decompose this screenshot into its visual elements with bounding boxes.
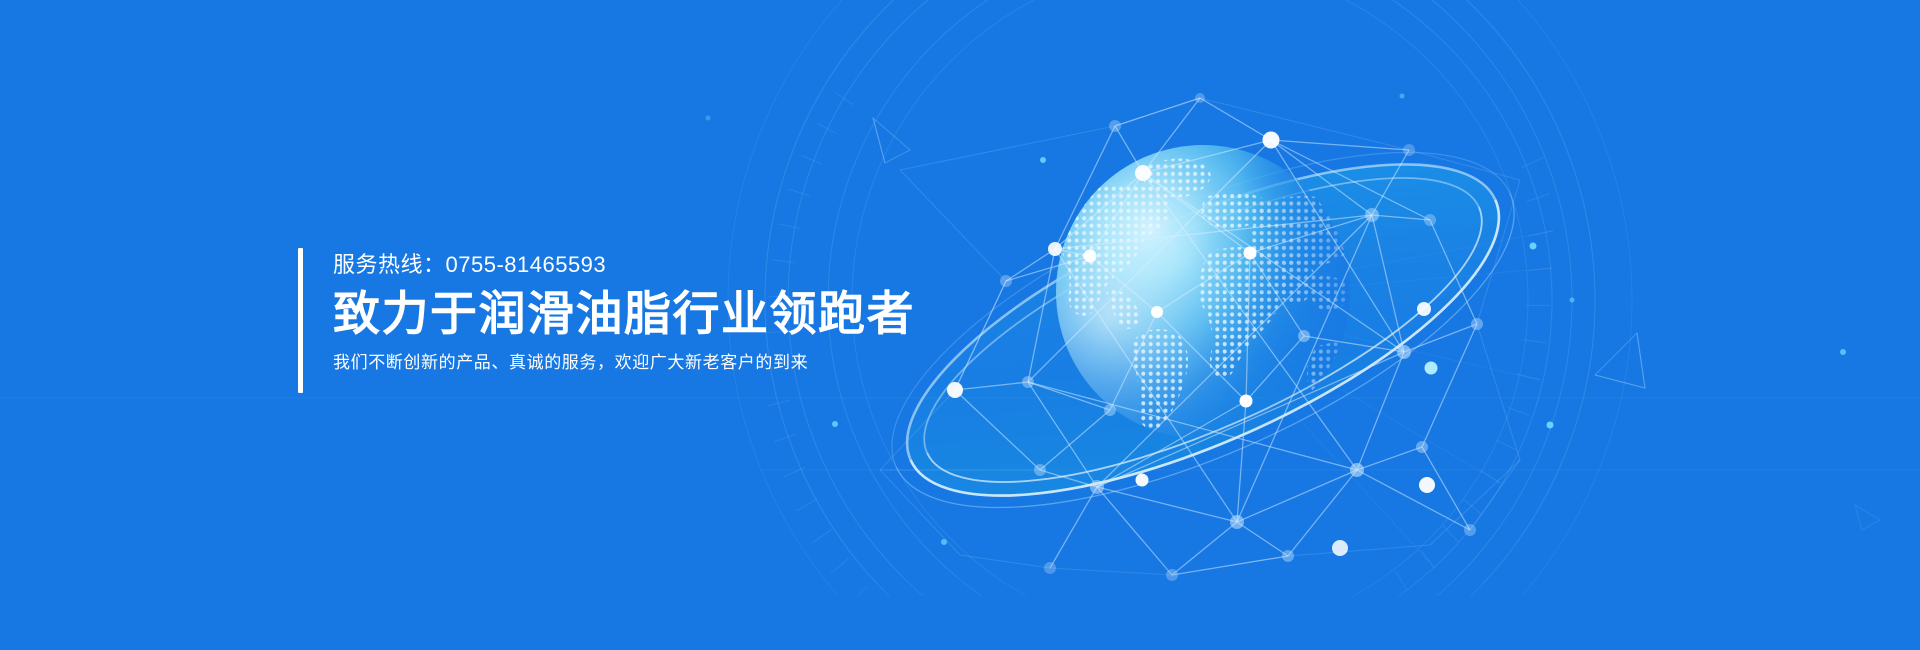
banner-text-column: 服务热线：0755-81465593 致力于润滑油脂行业领跑者 我们不断创新的产… xyxy=(303,248,915,393)
wireframe-triangle-decoration xyxy=(873,118,1880,530)
radar-arc-decoration xyxy=(0,0,1920,650)
dotted-world-map xyxy=(1056,158,1376,429)
service-hotline: 服务热线：0755-81465593 xyxy=(333,250,915,280)
banner-subheadline: 我们不断创新的产品、真诚的服务，欢迎广大新老客户的到来 xyxy=(333,350,915,376)
hero-banner: 服务热线：0755-81465593 致力于润滑油脂行业领跑者 我们不断创新的产… xyxy=(0,0,1920,650)
network-globe-icon xyxy=(1056,145,1376,439)
banner-artwork xyxy=(0,0,1920,650)
orbit-ring-icon xyxy=(846,80,1561,580)
orbit-ring-front xyxy=(896,193,1560,580)
banner-text-block: 服务热线：0755-81465593 致力于润滑油脂行业领跑者 我们不断创新的产… xyxy=(298,248,915,393)
banner-headline: 致力于润滑油脂行业领跑者 xyxy=(333,284,915,344)
